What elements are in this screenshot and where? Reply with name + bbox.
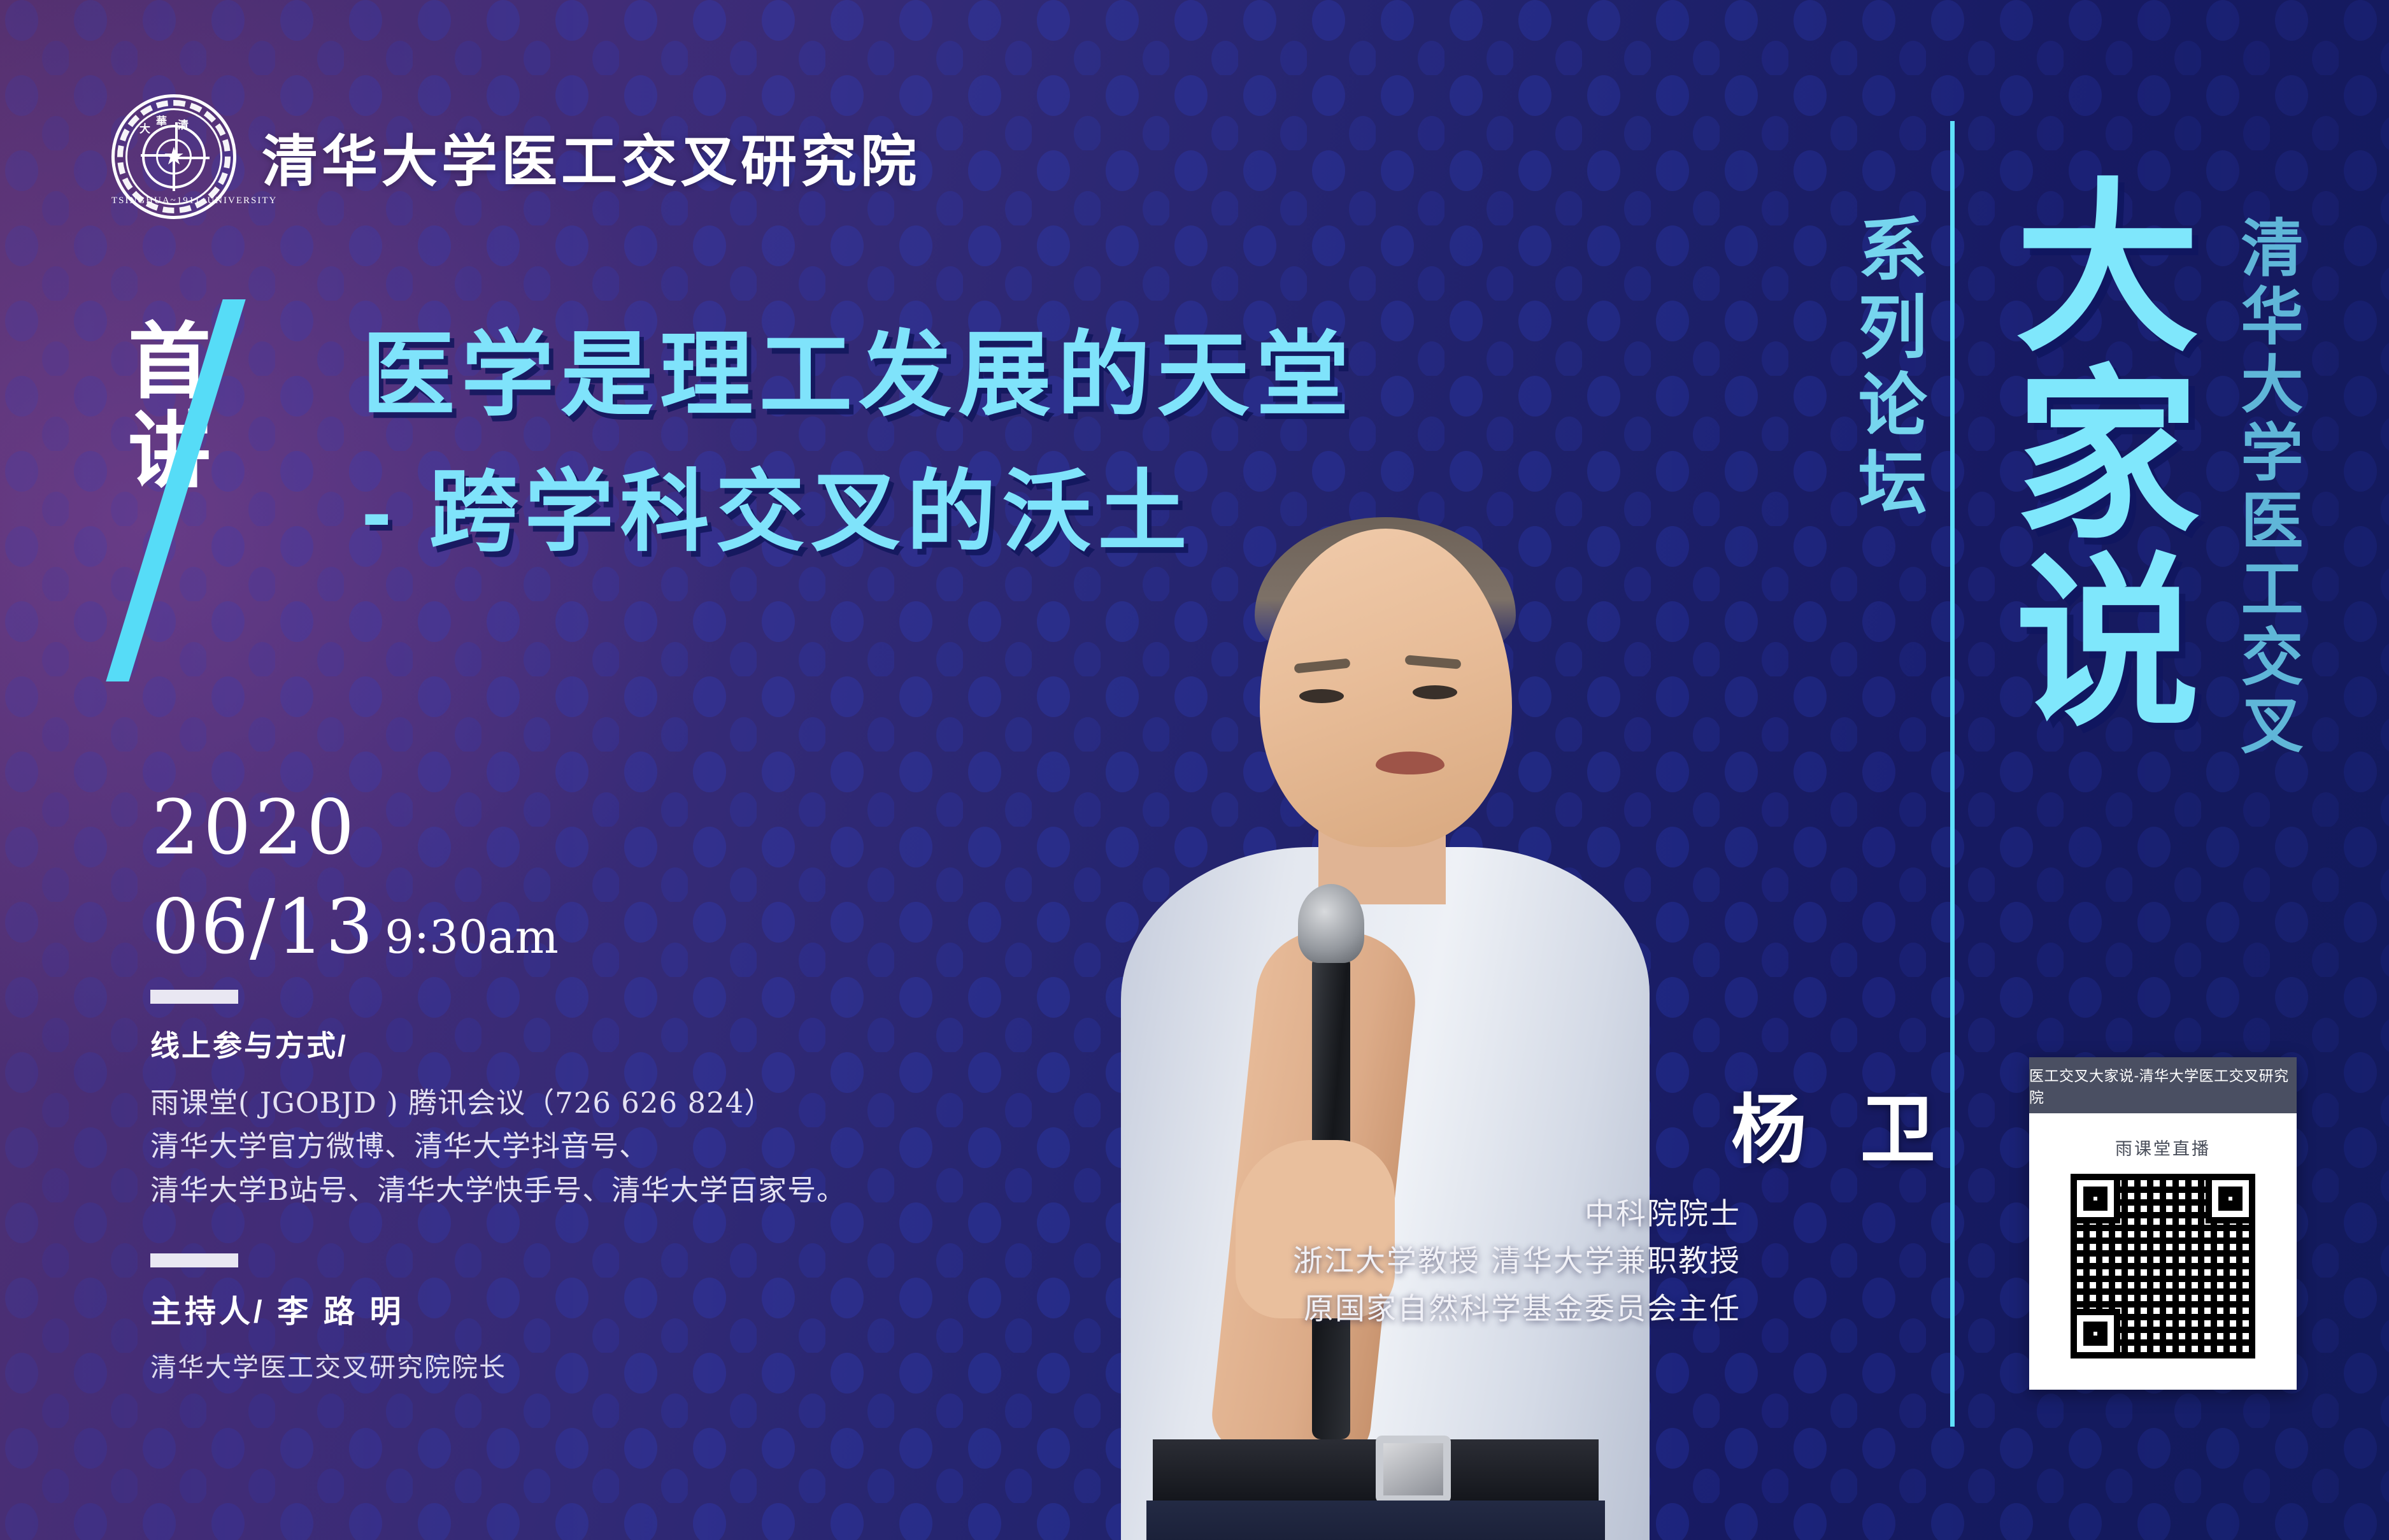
speaker-photo xyxy=(1045,490,1720,1540)
header: ★ 華 大 清 TSINGHUA~1911~UNIVERSITY 清华大学医工交… xyxy=(111,94,920,219)
event-date: 06/13 xyxy=(152,889,374,964)
host-label: 主持人/ xyxy=(150,1295,266,1329)
institute-vertical-label: 清华大学医工交叉 xyxy=(2227,215,2306,760)
series-label: 系列论坛 xyxy=(1841,213,1933,524)
title-line-1: 医学是理工发展的天堂 xyxy=(362,329,1355,422)
section-rule xyxy=(150,990,238,1004)
host-title: 清华大学医工交叉研究院院长 xyxy=(150,1346,506,1384)
institute-name: 清华大学医工交叉研究院 xyxy=(262,117,920,197)
section-rule xyxy=(150,1253,238,1267)
qr-card-header: 医工交叉大家说-清华大学医工交叉研究院 xyxy=(2029,1057,2297,1113)
speaker-name: 杨 卫 xyxy=(1731,1069,1952,1178)
poster: ★ 華 大 清 TSINGHUA~1911~UNIVERSITY 清华大学医工交… xyxy=(0,0,2389,1540)
brand-title: 大家说 xyxy=(1987,171,2194,732)
online-line-2: 清华大学官方微博、清华大学抖音号、 xyxy=(150,1125,846,1168)
vertical-divider xyxy=(1950,121,1955,1427)
credential-3: 原国家自然科学基金委员会主任 xyxy=(1293,1286,1741,1333)
online-heading: 线上参与方式/ xyxy=(150,1023,846,1065)
credential-2: 浙江大学教授 清华大学兼职教授 xyxy=(1293,1238,1741,1285)
qr-card[interactable]: 医工交叉大家说-清华大学医工交叉研究院 雨课堂直播 xyxy=(2029,1057,2297,1390)
qr-label: 雨课堂直播 xyxy=(2115,1135,2211,1160)
tsinghua-seal-icon: ★ 華 大 清 TSINGHUA~1911~UNIVERSITY xyxy=(111,94,236,219)
event-datetime: 2020 06/13 9:30am xyxy=(152,790,559,964)
host-block: 主持人/ 李 路 明 清华大学医工交叉研究院院长 xyxy=(150,1253,506,1384)
qr-code[interactable] xyxy=(2071,1174,2255,1358)
host-name: 李 路 明 xyxy=(277,1295,404,1329)
speaker-credentials: 中科院院士 浙江大学教授 清华大学兼职教授 原国家自然科学基金委员会主任 xyxy=(1293,1191,1741,1333)
event-year: 2020 xyxy=(152,790,559,865)
event-time: 9:30am xyxy=(385,914,559,960)
online-line-3: 清华大学B站号、清华大学快手号、清华大学百家号。 xyxy=(150,1169,846,1212)
online-participation-block: 线上参与方式/ 雨课堂( JGOBJD ) 腾讯会议（726 626 824） … xyxy=(150,990,846,1212)
online-line-1: 雨课堂( JGOBJD ) 腾讯会议（726 626 824） xyxy=(150,1081,846,1125)
credential-1: 中科院院士 xyxy=(1293,1191,1741,1238)
